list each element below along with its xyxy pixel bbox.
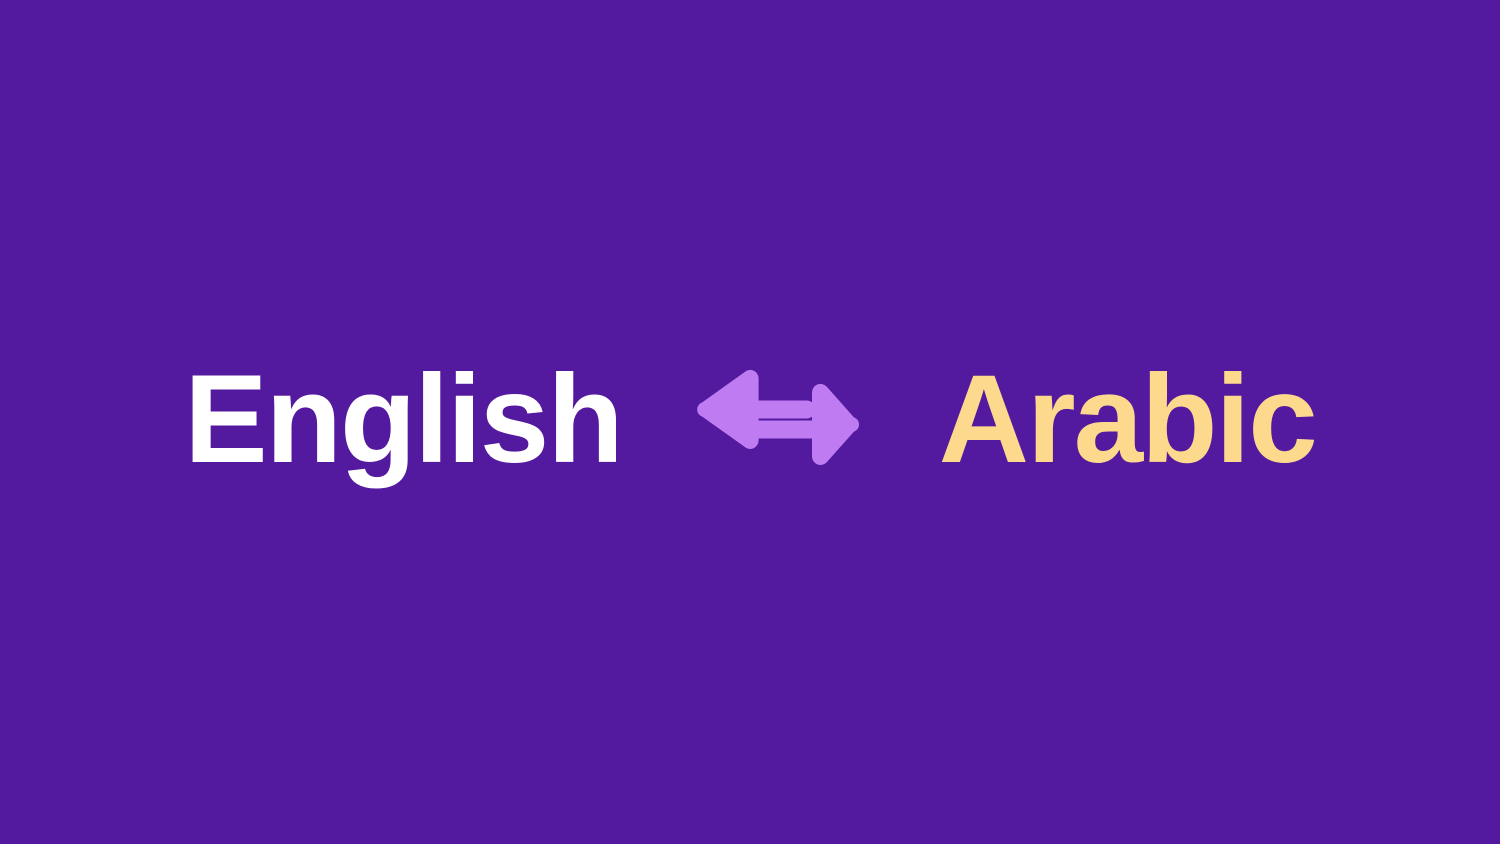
source-language-label: English: [184, 357, 621, 482]
arrow-right-head: [812, 384, 859, 465]
target-language-label: Arabic: [939, 357, 1316, 482]
language-pair-banner: English Translate between languages Arab…: [0, 0, 1500, 844]
bidirectional-swap-arrows-icon[interactable]: Translate between languages: [696, 367, 860, 471]
arrow-right-shaft: [741, 421, 822, 439]
language-pair-row: English Translate between languages Arab…: [184, 319, 1315, 519]
swap-arrows-icon-glyph: [697, 370, 859, 465]
